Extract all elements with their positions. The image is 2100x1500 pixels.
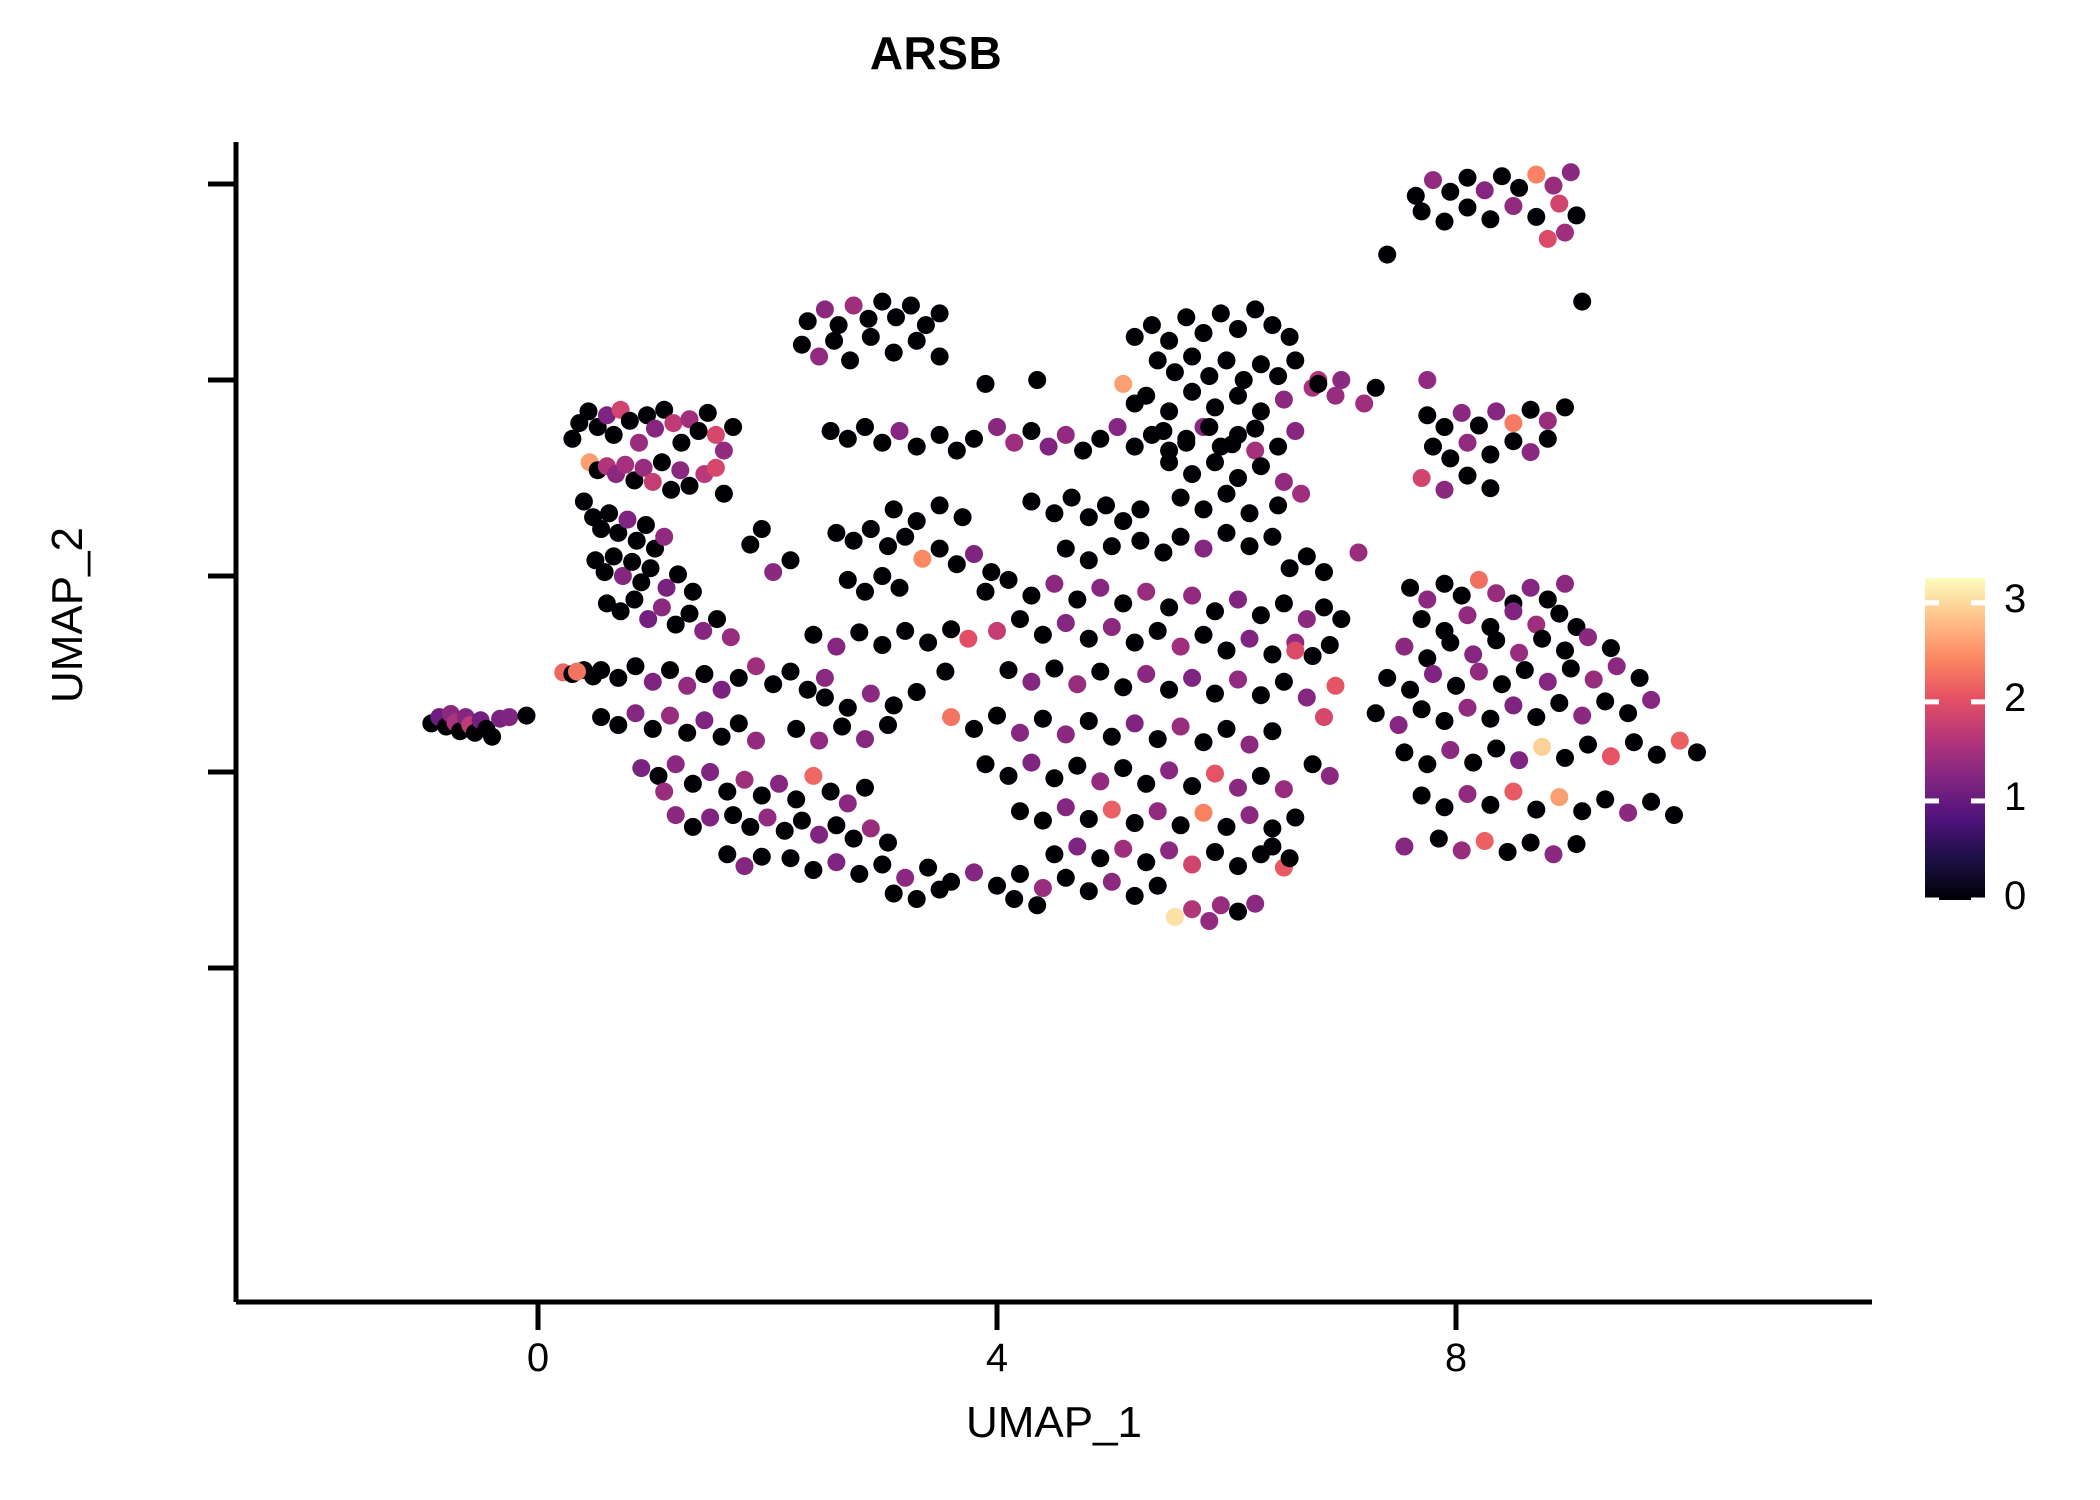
scatter-point — [1195, 540, 1213, 558]
scatter-point — [782, 551, 800, 569]
scatter-point — [1246, 442, 1264, 460]
scatter-point — [1022, 493, 1040, 511]
scatter-point — [1195, 804, 1213, 822]
scatter-point — [885, 696, 903, 714]
scatter-point — [1183, 856, 1201, 874]
scatter-point — [653, 598, 671, 616]
scatter-point — [845, 830, 863, 848]
scatter-point — [753, 848, 771, 866]
scatter-point — [592, 708, 610, 726]
scatter-point — [1510, 179, 1528, 197]
scatter-point — [684, 775, 702, 793]
scatter-point — [1195, 626, 1213, 644]
scatter-point — [885, 885, 903, 903]
scatter-point — [1068, 757, 1086, 775]
scatter-point — [988, 707, 1006, 725]
scatter-point — [1183, 465, 1201, 483]
scatter-point — [1068, 838, 1086, 856]
scatter-point — [1206, 453, 1224, 471]
scatter-point — [887, 308, 905, 326]
scatter-point — [1418, 591, 1436, 609]
scatter-point — [862, 520, 880, 538]
scatter-point — [1005, 890, 1023, 908]
scatter-point — [662, 481, 680, 499]
scatter-point — [1665, 806, 1683, 824]
scatter-point — [764, 563, 782, 581]
scatter-point — [580, 402, 598, 420]
scatter-point — [1263, 819, 1281, 837]
colorbar-tick-label: 3 — [2004, 577, 2026, 622]
scatter-point — [1556, 398, 1574, 416]
scatter-point — [718, 845, 736, 863]
scatter-point — [1292, 485, 1310, 503]
scatter-point — [1504, 602, 1522, 620]
scatter-point — [1596, 692, 1614, 710]
scatter-point — [1137, 665, 1155, 683]
scatter-point — [988, 418, 1006, 436]
scatter-point — [1608, 657, 1626, 675]
scatter-point — [1510, 751, 1528, 769]
scatter-point — [1126, 814, 1144, 832]
scatter-point — [1126, 634, 1144, 652]
scatter-point — [1413, 610, 1431, 628]
scatter-point — [1281, 328, 1299, 346]
scatter-point — [1183, 777, 1201, 795]
scatter-point — [1459, 199, 1477, 217]
scatter-point — [1000, 767, 1018, 785]
scatter-point — [1206, 398, 1224, 416]
scatter-point — [942, 708, 960, 726]
scatter-point — [1602, 747, 1620, 765]
scatter-point — [879, 537, 897, 555]
scatter-point — [965, 545, 983, 563]
scatter-point — [1212, 896, 1230, 914]
scatter-point — [850, 865, 868, 883]
scatter-point — [1063, 489, 1081, 507]
scatter-point — [1166, 908, 1184, 926]
scatter-point — [1057, 614, 1075, 632]
scatter-point — [1160, 841, 1178, 859]
scatter-point — [612, 602, 630, 620]
scatter-point — [856, 418, 874, 436]
scatter-point — [605, 547, 623, 565]
scatter-point — [1579, 736, 1597, 754]
scatter-point — [1068, 591, 1086, 609]
scatter-point — [646, 420, 664, 438]
scatter-point — [841, 351, 859, 369]
scatter-point — [630, 434, 648, 452]
scatter-point — [902, 297, 920, 315]
scatter-point — [609, 716, 627, 734]
scatter-point — [1556, 642, 1574, 660]
scatter-points-layer — [422, 163, 1706, 930]
scatter-point — [891, 422, 909, 440]
scatter-point — [776, 822, 794, 840]
scatter-point — [1126, 395, 1144, 413]
scatter-point — [1045, 660, 1063, 678]
scatter-point — [1562, 660, 1580, 678]
scatter-point — [908, 890, 926, 908]
scatter-point — [1040, 438, 1058, 456]
scatter-point — [707, 426, 725, 444]
scatter-point — [965, 430, 983, 448]
scatter-point — [632, 759, 650, 777]
scatter-point — [1504, 414, 1522, 432]
scatter-point — [1350, 544, 1368, 562]
scatter-point — [1218, 485, 1236, 503]
scatter-point — [977, 583, 995, 601]
scatter-point — [1269, 438, 1287, 456]
scatter-point — [1539, 430, 1557, 448]
scatter-point — [1034, 812, 1052, 830]
scatter-point — [1573, 293, 1591, 311]
scatter-point — [707, 459, 725, 477]
scatter-point — [1218, 524, 1236, 542]
scatter-point — [661, 661, 679, 679]
scatter-point — [1550, 195, 1568, 213]
scatter-point — [931, 881, 949, 899]
scatter-point — [873, 856, 891, 874]
scatter-point — [1241, 806, 1259, 824]
scatter-point — [1424, 665, 1442, 683]
scatter-point — [730, 714, 748, 732]
scatter-point — [1114, 759, 1132, 777]
scatter-point — [1218, 642, 1236, 660]
scatter-point — [1504, 783, 1522, 801]
scatter-point — [1252, 686, 1270, 704]
scatter-point — [1275, 780, 1293, 798]
scatter-point — [1263, 838, 1281, 856]
scatter-point — [1281, 849, 1299, 867]
scatter-point — [1527, 708, 1545, 726]
scatter-point — [713, 681, 731, 699]
scatter-point — [1034, 626, 1052, 644]
scatter-point — [988, 622, 1006, 640]
scatter-point — [1172, 718, 1190, 736]
scatter-point — [1149, 622, 1167, 640]
scatter-point — [948, 555, 966, 573]
scatter-point — [885, 500, 903, 518]
scatter-point — [862, 685, 880, 703]
scatter-point — [1476, 832, 1494, 850]
scatter-point — [1183, 900, 1201, 918]
scatter-point — [1000, 571, 1018, 589]
scatter-point — [1252, 606, 1270, 624]
scatter-point — [1407, 187, 1425, 205]
scatter-point — [1103, 801, 1121, 819]
scatter-point — [1252, 767, 1270, 785]
scatter-point — [1441, 183, 1459, 201]
scatter-point — [1481, 479, 1499, 497]
scatter-point — [770, 775, 788, 793]
scatter-point — [1091, 772, 1109, 790]
scatter-point — [860, 310, 878, 328]
scatter-point — [699, 404, 717, 422]
scatter-point — [816, 300, 834, 318]
scatter-point — [672, 434, 690, 452]
scatter-point — [1200, 418, 1218, 436]
scatter-point — [782, 663, 800, 681]
scatter-point — [1459, 606, 1477, 624]
scatter-point — [747, 732, 765, 750]
scatter-point — [1550, 605, 1568, 623]
scatter-point — [896, 622, 914, 640]
scatter-point — [1223, 435, 1241, 453]
scatter-point — [1631, 669, 1649, 687]
scatter-point — [1424, 171, 1442, 189]
scatter-point — [1522, 579, 1540, 597]
scatter-point — [1229, 469, 1247, 487]
scatter-point — [1080, 630, 1098, 648]
scatter-point — [1516, 661, 1534, 679]
scatter-point — [694, 622, 712, 640]
scatter-point — [1539, 591, 1557, 609]
scatter-point — [1149, 877, 1167, 895]
scatter-point — [1011, 724, 1029, 742]
colorbar-tick-label: 2 — [2004, 676, 2026, 721]
scatter-point — [644, 473, 662, 491]
scatter-point — [1436, 712, 1454, 730]
scatter-point — [1481, 710, 1499, 728]
scatter-point — [1143, 316, 1161, 334]
scatter-point — [873, 434, 891, 452]
scatter-point — [839, 794, 857, 812]
scatter-point — [804, 767, 822, 785]
scatter-point — [1441, 741, 1459, 759]
scatter-point — [1034, 879, 1052, 897]
scatter-point — [1470, 417, 1488, 435]
scatter-point — [764, 675, 782, 693]
scatter-point — [1045, 575, 1063, 593]
scatter-point — [879, 834, 897, 852]
scatter-point — [873, 293, 891, 311]
scatter-point — [822, 422, 840, 440]
scatter-point — [1625, 733, 1643, 751]
scatter-point — [1459, 785, 1477, 803]
scatter-point — [931, 496, 949, 514]
scatter-point — [1091, 579, 1109, 597]
scatter-point — [1304, 755, 1322, 773]
scatter-point — [625, 591, 643, 609]
scatter-point — [919, 859, 937, 877]
scatter-point — [1487, 631, 1505, 649]
scatter-point — [1430, 830, 1448, 848]
scatter-point — [623, 553, 641, 571]
scatter-point — [942, 620, 960, 638]
scatter-point — [1424, 438, 1442, 456]
scatter-point — [1057, 725, 1075, 743]
scatter-point — [825, 332, 843, 350]
scatter-point — [1395, 743, 1413, 761]
scatter-point — [701, 763, 719, 781]
scatter-point — [965, 863, 983, 881]
scatter-point — [954, 508, 972, 526]
scatter-point — [483, 728, 501, 746]
scatter-point — [1045, 504, 1063, 522]
scatter-point — [810, 826, 828, 844]
scatter-point — [948, 442, 966, 460]
scatter-point — [1068, 675, 1086, 693]
scatter-point — [1103, 728, 1121, 746]
scatter-point — [879, 716, 897, 734]
scatter-point — [1436, 575, 1454, 593]
scatter-point — [592, 520, 610, 538]
scatter-point — [1579, 628, 1597, 646]
scatter-point — [1103, 537, 1121, 555]
scatter-point — [695, 711, 713, 729]
scatter-point — [1545, 177, 1563, 195]
scatter-point — [1022, 587, 1040, 605]
scatter-point — [1327, 387, 1345, 405]
scatter-point — [1436, 798, 1454, 816]
scatter-point — [1172, 638, 1190, 656]
scatter-point — [1229, 320, 1247, 338]
scatter-point — [1126, 438, 1144, 456]
scatter-point — [1275, 673, 1293, 691]
scatter-point — [592, 661, 610, 679]
scatter-point — [1241, 537, 1259, 555]
scatter-point — [1619, 704, 1637, 722]
scatter-point — [1126, 328, 1144, 346]
scatter-point — [684, 583, 702, 601]
scatter-point — [1315, 598, 1333, 616]
scatter-point — [664, 414, 682, 432]
scatter-point — [642, 559, 660, 577]
scatter-point — [1585, 671, 1603, 689]
scatter-point — [1028, 371, 1046, 389]
scatter-point — [1481, 796, 1499, 814]
scatter-point — [1470, 571, 1488, 589]
scatter-point — [1327, 677, 1345, 695]
scatter-point — [1114, 840, 1132, 858]
scatter-point — [1304, 647, 1322, 665]
scatter-point — [730, 669, 748, 687]
scatter-point — [977, 375, 995, 393]
scatter-point — [1045, 769, 1063, 787]
scatter-point — [1005, 434, 1023, 452]
scatter-point — [827, 524, 845, 542]
scatter-point — [856, 583, 874, 601]
scatter-point — [753, 787, 771, 805]
scatter-point — [1263, 316, 1281, 334]
scatter-point — [931, 540, 949, 558]
scatter-point — [1447, 677, 1465, 695]
scatter-point — [655, 528, 673, 546]
scatter-point — [1097, 496, 1115, 514]
scatter-point — [1533, 630, 1551, 648]
scatter-point — [931, 304, 949, 322]
scatter-point — [1441, 449, 1459, 467]
scatter-point — [1309, 375, 1327, 393]
scatter-point — [667, 806, 685, 824]
scatter-point — [669, 565, 687, 583]
scatter-point — [1212, 304, 1230, 322]
scatter-point — [1556, 749, 1574, 767]
scatter-point — [1298, 610, 1316, 628]
scatter-point — [1011, 865, 1029, 883]
scatter-point — [1229, 903, 1247, 921]
scatter-point — [804, 861, 822, 879]
scatter-point — [1022, 754, 1040, 772]
scatter-point — [671, 461, 689, 479]
scatter-point — [1418, 649, 1436, 667]
scatter-point — [596, 563, 614, 581]
scatter-point — [736, 771, 754, 789]
scatter-point — [1522, 443, 1540, 461]
scatter-point — [1367, 704, 1385, 722]
scatter-point — [1103, 873, 1121, 891]
scatter-point — [1011, 610, 1029, 628]
scatter-point — [1275, 473, 1293, 491]
scatter-point — [1642, 793, 1660, 811]
scatter-point — [1619, 804, 1637, 822]
scatter-point — [644, 673, 662, 691]
scatter-point — [908, 438, 926, 456]
scatter-point — [1459, 434, 1477, 452]
scatter-point — [1413, 787, 1431, 805]
scatter-point — [896, 869, 914, 887]
scatter-point — [1504, 197, 1522, 215]
scatter-point — [1218, 351, 1236, 369]
scatter-point — [1453, 404, 1471, 422]
scatter-point — [563, 430, 581, 448]
scatter-point — [1206, 765, 1224, 783]
scatter-point — [1206, 602, 1224, 620]
scatter-point — [1149, 802, 1167, 820]
scatter-point — [1091, 849, 1109, 867]
scatter-point — [1286, 809, 1304, 827]
scatter-point — [1556, 575, 1574, 593]
scatter-point — [1481, 446, 1499, 464]
scatter-point — [678, 677, 696, 695]
scatter-point — [1263, 528, 1281, 546]
scatter-point — [959, 630, 977, 648]
scatter-point — [936, 663, 954, 681]
scatter-point — [1229, 779, 1247, 797]
scatter-point — [782, 849, 800, 867]
scatter-point — [1401, 681, 1419, 699]
scatter-point — [793, 336, 811, 354]
scatter-point — [827, 816, 845, 834]
scatter-point — [1200, 912, 1218, 930]
scatter-point — [1183, 348, 1201, 366]
scatter-point — [684, 818, 702, 836]
scatter-point — [1355, 395, 1373, 413]
scatter-point — [873, 567, 891, 585]
scatter-point — [1080, 712, 1098, 730]
scatter-point — [1332, 371, 1350, 389]
scatter-point — [1034, 710, 1052, 728]
scatter-point — [793, 812, 811, 830]
scatter-point — [1172, 489, 1190, 507]
scatter-point — [637, 516, 655, 534]
scatter-point — [1195, 733, 1213, 751]
scatter-point — [1160, 453, 1178, 471]
scatter-point — [1057, 540, 1075, 558]
scatter-point — [667, 755, 685, 773]
scatter-point — [1315, 563, 1333, 581]
scatter-point — [1510, 644, 1528, 662]
scatter-point — [724, 806, 742, 824]
scatter-point — [1418, 406, 1436, 424]
scatter-point — [1160, 332, 1178, 350]
scatter-point — [1137, 583, 1155, 601]
scatter-point — [681, 477, 699, 495]
scatter-point — [816, 669, 834, 687]
scatter-point — [908, 512, 926, 530]
scatter-point — [1642, 691, 1660, 709]
scatter-point — [1453, 587, 1471, 605]
